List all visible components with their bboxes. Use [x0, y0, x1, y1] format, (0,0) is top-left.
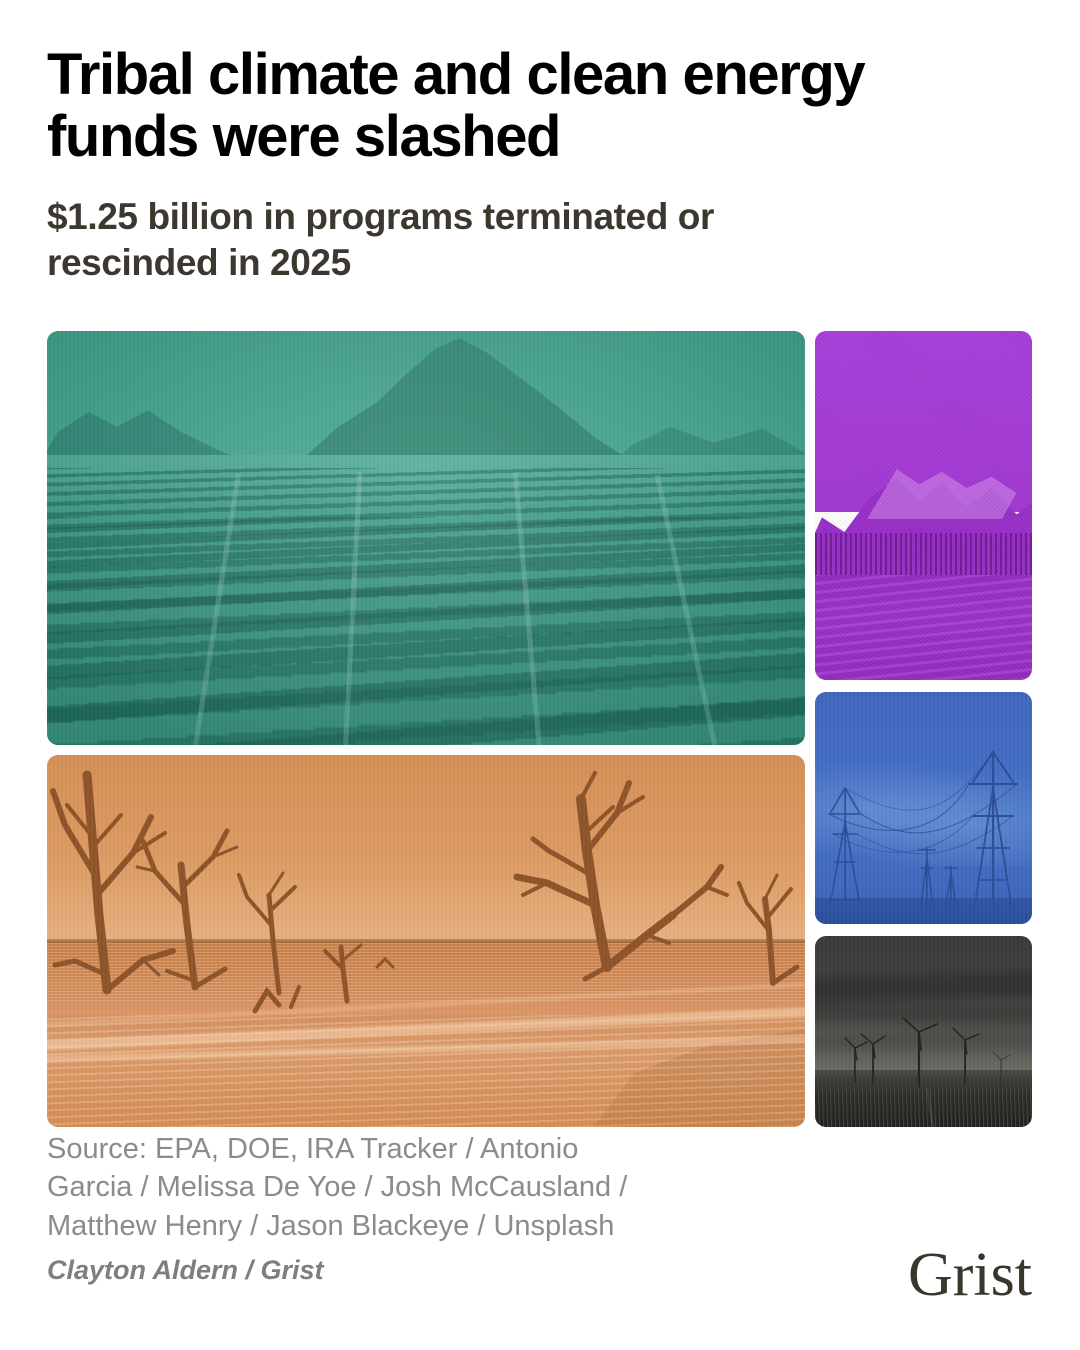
page-title: Tribal climate and clean energy funds we…	[47, 44, 1007, 168]
solar-farm-photo	[47, 331, 805, 745]
grist-logo: Grist	[908, 1244, 1032, 1306]
source-line-1: Source: EPA, DOE, IRA Tracker / Antonio	[47, 1133, 578, 1165]
source-line-2: Garcia / Melissa De Yoe / Josh McCauslan…	[47, 1171, 627, 1203]
treemap-tile-energy-loans[interactable]: Energy loans $73M	[815, 936, 1032, 1127]
treemap-tile-alaska-projects[interactable]: Alaska projects $132M	[815, 331, 1032, 680]
wind-turbines-photo	[815, 936, 1032, 1127]
source-credit: Source: EPA, DOE, IRA Tracker / Antonio …	[47, 1130, 827, 1245]
byline: Clayton Aldern / Grist	[47, 1253, 827, 1288]
treemap-tile-solar-for-all[interactable]: Solar for All $504M	[47, 331, 805, 745]
treemap-chart: Solar for All $504M	[47, 331, 1032, 1127]
infographic-page: Tribal climate and clean energy funds we…	[0, 0, 1080, 1350]
transmission-towers-photo	[815, 692, 1032, 924]
header: Tribal climate and clean energy funds we…	[47, 44, 1007, 287]
flooded-dead-trees-photo	[47, 755, 805, 1127]
footer: Source: EPA, DOE, IRA Tracker / Antonio …	[47, 1130, 827, 1288]
treemap-tile-ecj-grants[interactable]: ECJ grants $450M	[47, 755, 805, 1127]
alaska-landscape-photo	[815, 331, 1032, 680]
treemap-tile-grid-resilience[interactable]: Grid resilience $88M	[815, 692, 1032, 924]
page-subtitle: $1.25 billion in programs terminated or …	[47, 194, 877, 287]
source-line-3: Matthew Henry / Jason Blackeye / Unsplas…	[47, 1210, 614, 1242]
